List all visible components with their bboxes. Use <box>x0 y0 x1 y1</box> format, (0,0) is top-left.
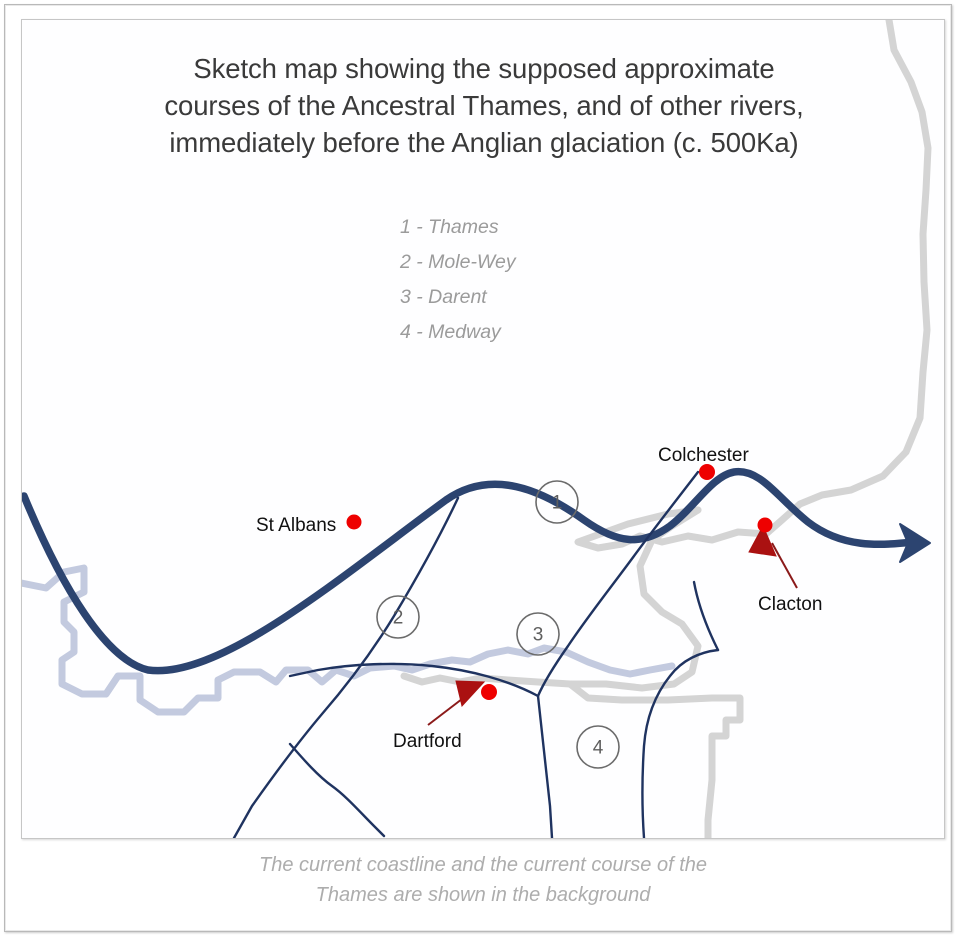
river-mole-wey-tributary <box>290 744 384 836</box>
ancestral-thames-path <box>24 472 912 671</box>
legend-item-medway: 4 - Medway <box>400 315 516 350</box>
city-marker-dartford[interactable] <box>481 684 497 700</box>
place-label-clacton: Clacton <box>758 594 822 616</box>
river-legend: 1 - Thames 2 - Mole-Wey 3 - Darent 4 - M… <box>400 210 516 350</box>
city-marker-clacton[interactable] <box>758 518 773 533</box>
river-number-marker-4[interactable]: 4 <box>577 726 619 768</box>
legend-item-darent: 3 - Darent <box>400 280 516 315</box>
ancestral-thames-river <box>24 472 930 671</box>
river-number-label-4: 4 <box>593 738 604 759</box>
legend-item-thames: 1 - Thames <box>400 210 516 245</box>
legend-item-mole-wey: 2 - Mole-Wey <box>400 245 516 280</box>
river-number-label-2: 2 <box>393 608 404 629</box>
city-marker-st-albans[interactable] <box>347 515 362 530</box>
river-darent-south <box>538 696 552 838</box>
map-panel: 1 2 3 4 <box>21 19 945 839</box>
picture-frame: 1 2 3 4 <box>4 4 952 932</box>
place-label-st-albans: St Albans <box>256 515 336 537</box>
dartford-arrow-head <box>456 681 484 706</box>
dartford-arrow-shaft <box>428 699 462 725</box>
river-number-label-3: 3 <box>533 625 544 646</box>
map-title: Sketch map showing the supposed approxim… <box>22 50 945 161</box>
place-label-dartford: Dartford <box>393 731 462 753</box>
map-caption: The current coastline and the current co… <box>9 850 957 910</box>
clacton-arrow-shaft <box>772 543 797 588</box>
river-number-label-1: 1 <box>552 493 563 514</box>
river-number-marker-2[interactable]: 2 <box>377 596 419 638</box>
place-label-colchester: Colchester <box>658 445 749 467</box>
sketch-map-page: 1 2 3 4 <box>0 0 960 942</box>
dartford-pointer-arrow <box>428 681 484 725</box>
coastline-kent <box>570 684 740 839</box>
river-number-marker-1[interactable]: 1 <box>536 481 578 523</box>
